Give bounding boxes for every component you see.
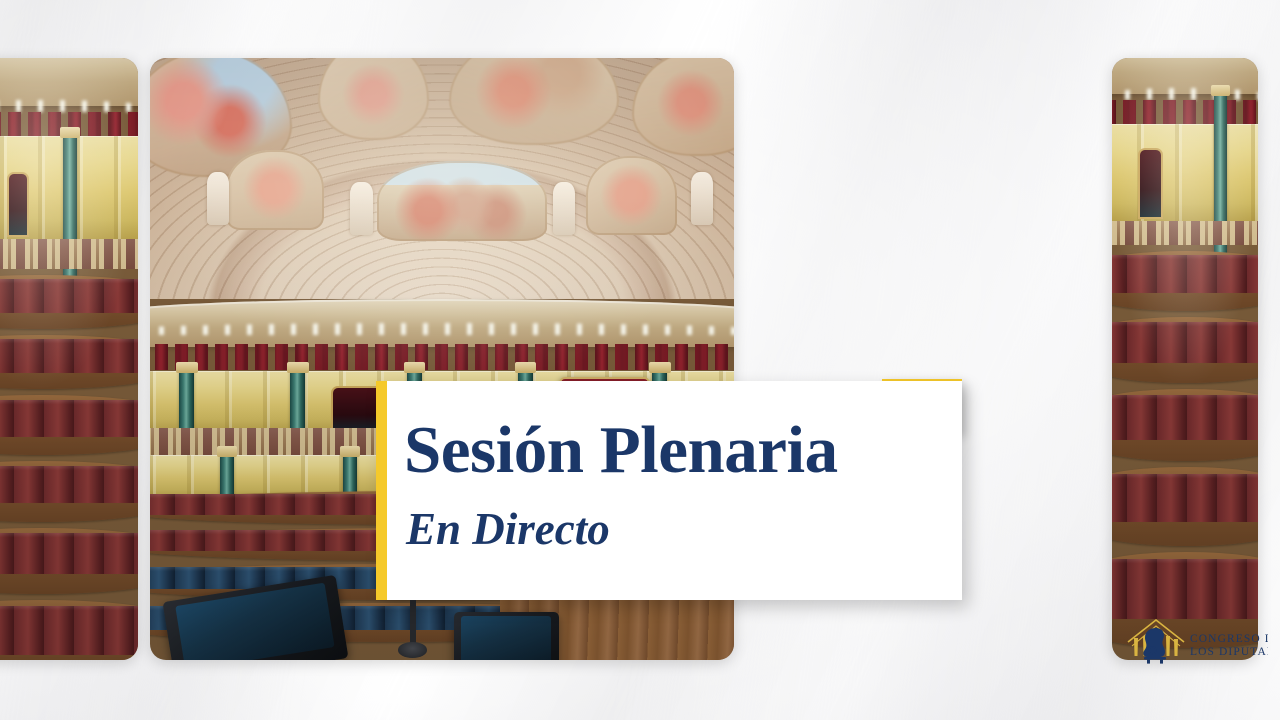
bench-row <box>1112 467 1258 545</box>
bench-row <box>0 395 138 455</box>
bench-row <box>0 275 138 329</box>
logo-line-2: LOS DIPUTADOS <box>1190 646 1268 658</box>
velvet-valance <box>1112 100 1258 126</box>
dome-statue <box>207 172 229 225</box>
title-accent-bar <box>376 381 387 600</box>
dome-fresco <box>449 58 619 145</box>
dome-statue <box>350 182 372 235</box>
title-card: Sesión Plenaria En Directo <box>376 381 962 600</box>
gold-wall-band <box>1112 124 1258 220</box>
dome-statue <box>553 182 575 235</box>
dome-fresco <box>632 58 734 156</box>
live-subtitle: En Directo <box>406 507 610 552</box>
page-title: Sesión Plenaria <box>404 417 838 484</box>
balustrade <box>1112 221 1258 245</box>
column <box>179 371 194 431</box>
bench-row <box>1112 317 1258 383</box>
bench-row <box>1112 251 1258 311</box>
right-chamber-photo <box>1112 58 1258 660</box>
bench-row <box>0 528 138 594</box>
display-monitor <box>454 612 559 660</box>
bench-row <box>0 600 138 660</box>
right-photo-panel <box>1112 58 1258 660</box>
dome-fresco <box>226 150 324 229</box>
bench-row <box>0 335 138 389</box>
left-chamber-photo <box>0 58 138 660</box>
column <box>220 455 234 497</box>
microphone-base <box>398 642 427 658</box>
velvet-valance <box>150 344 734 370</box>
dome-ceiling <box>150 58 734 299</box>
cornice <box>0 58 138 106</box>
dome-fresco <box>377 161 547 240</box>
doorway <box>7 172 29 236</box>
bench-row <box>1112 389 1258 461</box>
dome-statue <box>691 172 713 225</box>
ceiling-lights <box>150 323 734 335</box>
column <box>290 371 305 431</box>
congreso-logo: CONGRESO DE LOS DIPUTADOS <box>1118 612 1268 674</box>
logo-line-1: CONGRESO DE <box>1190 633 1268 645</box>
dome-fresco <box>318 58 429 140</box>
balustrade <box>0 239 138 269</box>
ceiling-lights <box>1112 88 1258 100</box>
broadcast-slate: Sesión Plenaria En Directo CONGRESO DE L <box>0 0 1280 720</box>
doorway <box>1138 148 1162 218</box>
dome-fresco <box>586 156 678 235</box>
left-photo-panel <box>0 58 138 660</box>
lion-emblem-icon <box>1143 628 1166 664</box>
ceiling-lights <box>0 100 138 112</box>
bench-row <box>0 461 138 521</box>
